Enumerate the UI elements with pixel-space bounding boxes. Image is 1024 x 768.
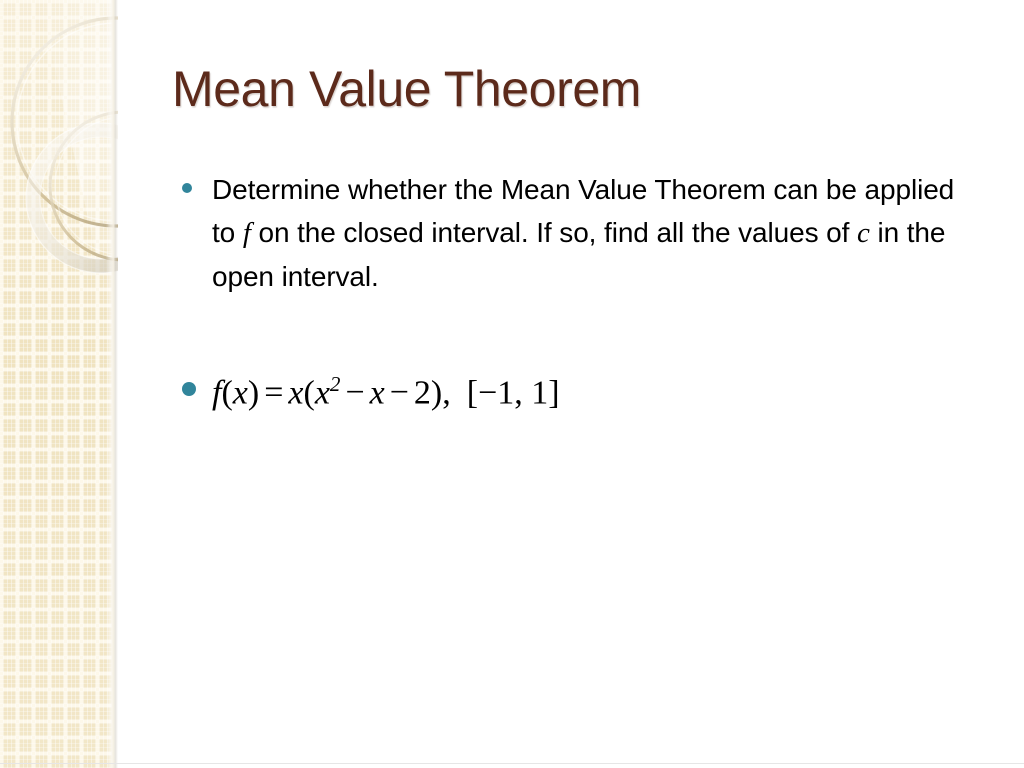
- variable-c: c: [857, 217, 870, 249]
- equation-equals: =: [259, 374, 288, 411]
- page-title: Mean Value Theorem: [172, 60, 972, 118]
- equation-factor: x: [288, 374, 303, 411]
- list-item: f(x)=x(x2−x−2),[−1, 1]: [172, 360, 972, 417]
- equation-comma: ,: [442, 374, 451, 411]
- equation-minus-2: −: [385, 374, 414, 411]
- bottom-divider: [0, 763, 1024, 764]
- equation-arg: x: [233, 374, 248, 411]
- equation-group-open: (: [303, 374, 314, 411]
- equation-close-paren: ): [248, 374, 259, 411]
- equation-open-paren: (: [221, 374, 232, 411]
- equation-term2: x: [370, 374, 385, 411]
- variable-f: f: [243, 217, 251, 249]
- interval-lower-bound: −1: [478, 374, 514, 411]
- sidebar-texture-panel: [0, 0, 114, 768]
- sidebar-edge-shadow: [106, 0, 118, 768]
- function-equation: f(x)=x(x2−x−2),[−1, 1]: [212, 360, 972, 417]
- interval-upper-bound: 1: [531, 374, 548, 411]
- equation-term1: x: [315, 374, 330, 411]
- instruction-paragraph: Determine whether the Mean Value Theorem…: [212, 168, 957, 298]
- slide: Mean Value Theorem Determine whether the…: [0, 0, 1024, 768]
- interval-open-bracket: [: [467, 374, 478, 411]
- content-body: Determine whether the Mean Value Theorem…: [172, 168, 972, 417]
- instruction-line-1: Determine whether the Mean Value Theorem…: [212, 174, 857, 205]
- equation-group-close: ): [431, 374, 442, 411]
- list-item: Determine whether the Mean Value Theorem…: [172, 168, 972, 298]
- interval-close-bracket: ]: [548, 374, 559, 411]
- bullet-dot-icon: [182, 183, 192, 193]
- equation-term3: 2: [414, 374, 431, 411]
- equation-term1-exponent: 2: [330, 372, 341, 396]
- instruction-line-3-pre: values of: [738, 217, 857, 248]
- equation-minus-1: −: [340, 374, 369, 411]
- instruction-line-2-post: on the closed interval. If so, find all …: [251, 217, 731, 248]
- interval-separator: ,: [514, 374, 523, 411]
- bullet-dot-icon: [182, 382, 196, 396]
